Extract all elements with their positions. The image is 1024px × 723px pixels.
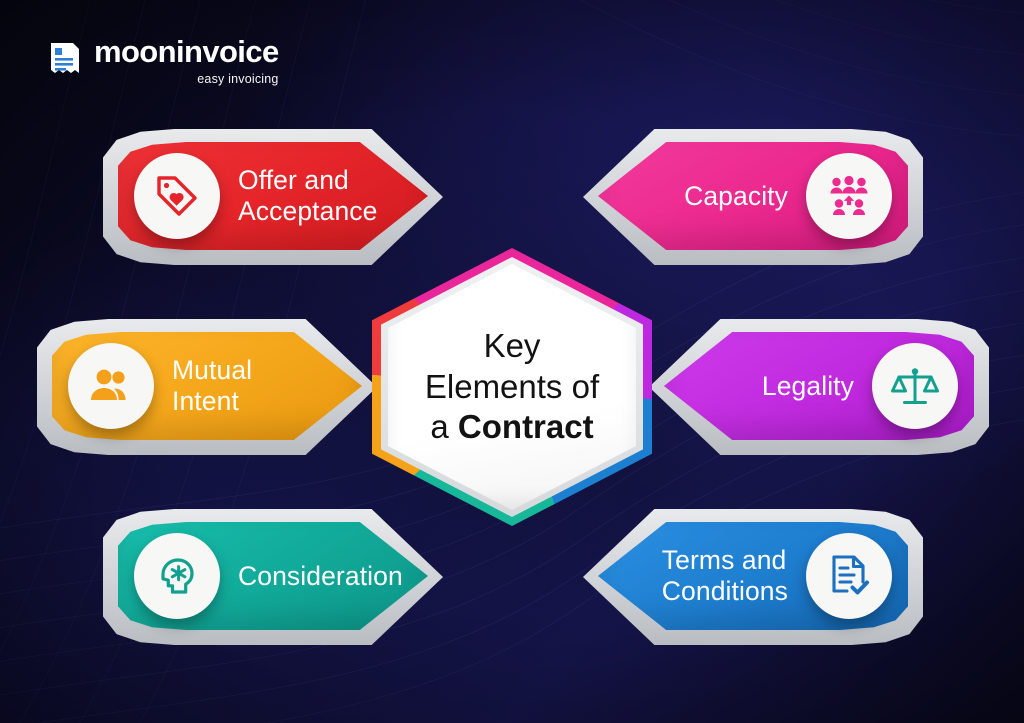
card-offer-and-acceptance[interactable]: Offer and Acceptance: [118, 142, 428, 250]
balance-scales-icon: [872, 343, 958, 429]
center-title-line-2: Elements of: [425, 367, 599, 408]
card-legality[interactable]: Legality: [664, 332, 974, 440]
center-title-prefix: a: [430, 408, 458, 445]
card-label: Capacity: [684, 181, 788, 212]
center-title: Key Elements of a Contract: [372, 248, 652, 526]
center-title-line-1: Key: [484, 326, 541, 367]
center-title-line-3: a Contract: [430, 407, 593, 448]
card-label: Mutual Intent: [172, 355, 326, 416]
invoice-document-icon: [48, 42, 82, 80]
head-thinking-asterisk-icon: [134, 533, 220, 619]
center-hexagon: Key Elements of a Contract: [372, 248, 652, 526]
infographic-canvas: mooninvoice easy invoicing Offer and Acc…: [0, 0, 1024, 723]
card-label: Terms and Conditions: [662, 545, 788, 606]
two-users-icon: [68, 343, 154, 429]
card-capacity[interactable]: Capacity: [598, 142, 908, 250]
price-tag-heart-icon: [134, 153, 220, 239]
people-group-hierarchy-icon: [806, 153, 892, 239]
brand-tagline: easy invoicing: [94, 73, 279, 86]
center-title-emphasis: Contract: [458, 408, 594, 445]
card-mutual-intent[interactable]: Mutual Intent: [52, 332, 362, 440]
card-label: Offer and Acceptance: [238, 165, 377, 226]
card-consideration[interactable]: Consideration: [118, 522, 428, 630]
card-label: Legality: [762, 371, 854, 402]
brand-name: mooninvoice: [94, 36, 279, 67]
brand-logo: mooninvoice easy invoicing: [48, 36, 279, 86]
card-terms-and-conditions[interactable]: Terms and Conditions: [598, 522, 908, 630]
document-check-icon: [806, 533, 892, 619]
card-label: Consideration: [238, 561, 403, 592]
